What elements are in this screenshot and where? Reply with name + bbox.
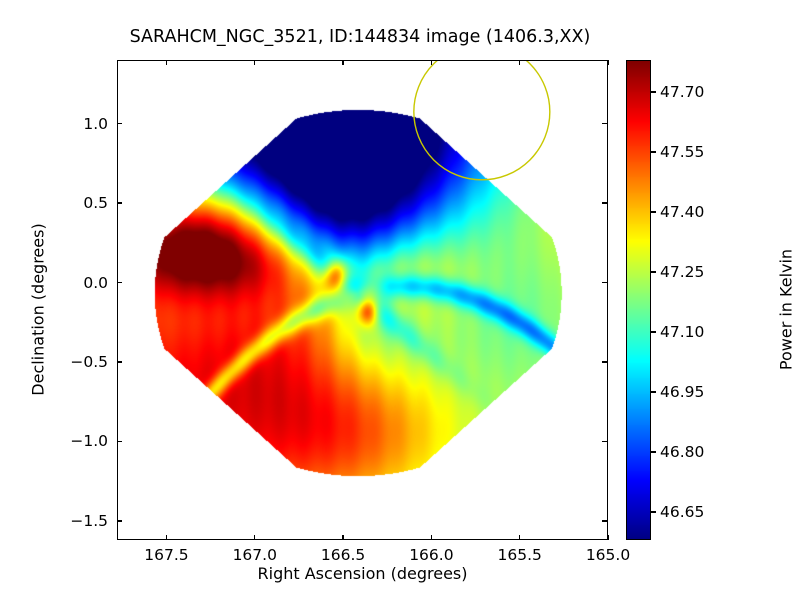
y-tick-mark <box>117 441 122 442</box>
y-tick-mark <box>117 520 122 521</box>
colorbar-tick-mark <box>651 391 656 392</box>
y-tick-label: −0.5 <box>40 353 108 371</box>
x-tick-mark-top <box>607 60 608 65</box>
y-tick-mark-right <box>602 202 607 203</box>
y-tick-label: 0.0 <box>40 274 108 292</box>
colorbar-tick-label: 47.55 <box>660 143 704 161</box>
colorbar-tick-mark <box>651 451 656 452</box>
y-tick-label: 1.0 <box>40 115 108 133</box>
y-tick-mark-right <box>602 520 607 521</box>
y-axis-label: Declination (degrees) <box>29 130 48 490</box>
colorbar-tick-label: 46.65 <box>660 503 704 521</box>
page-title: SARAHCM_NGC_3521, ID:144834 image (1406.… <box>0 27 720 47</box>
colorbar-tick-label: 47.10 <box>660 323 704 341</box>
x-tick-label: 166.0 <box>409 546 453 564</box>
y-tick-label: −1.5 <box>40 512 108 530</box>
colorbar-tick-mark <box>651 511 656 512</box>
colorbar-tick-label: 46.95 <box>660 383 704 401</box>
x-tick-mark <box>519 535 520 540</box>
colorbar-tick-label: 46.80 <box>660 443 704 461</box>
x-tick-mark <box>607 535 608 540</box>
y-tick-mark <box>117 282 122 283</box>
x-axis-label: Right Ascension (degrees) <box>117 564 608 583</box>
colorbar-tick-mark <box>651 91 656 92</box>
colorbar-tick-label: 47.40 <box>660 203 704 221</box>
x-tick-mark <box>342 535 343 540</box>
x-tick-mark-top <box>254 60 255 65</box>
beam-heatmap-image[interactable] <box>118 61 608 540</box>
x-tick-label: 166.5 <box>321 546 365 564</box>
colorbar[interactable] <box>626 60 651 540</box>
x-tick-label: 165.0 <box>586 546 630 564</box>
colorbar-tick-mark <box>651 271 656 272</box>
colorbar-gradient <box>627 61 651 540</box>
y-tick-mark-right <box>602 282 607 283</box>
y-tick-mark <box>117 123 122 124</box>
x-tick-label: 167.0 <box>233 546 277 564</box>
x-tick-mark-top <box>431 60 432 65</box>
x-tick-mark-top <box>519 60 520 65</box>
figure-root: SARAHCM_NGC_3521, ID:144834 image (1406.… <box>0 0 800 600</box>
colorbar-tick-label: 47.70 <box>660 83 704 101</box>
y-tick-mark-right <box>602 361 607 362</box>
x-tick-label: 167.5 <box>144 546 188 564</box>
x-tick-mark <box>166 535 167 540</box>
colorbar-tick-label: 47.25 <box>660 263 704 281</box>
y-tick-mark-right <box>602 123 607 124</box>
colorbar-label: Power in Kelvin <box>777 130 796 490</box>
x-tick-mark-top <box>166 60 167 65</box>
y-tick-mark <box>117 361 122 362</box>
colorbar-tick-mark <box>651 151 656 152</box>
colorbar-tick-mark <box>651 331 656 332</box>
y-tick-label: −1.0 <box>40 432 108 450</box>
x-tick-mark <box>431 535 432 540</box>
y-tick-mark <box>117 202 122 203</box>
colorbar-tick-mark <box>651 211 656 212</box>
plot-axes[interactable] <box>117 60 608 540</box>
x-tick-mark <box>254 535 255 540</box>
y-tick-mark-right <box>602 441 607 442</box>
x-tick-mark-top <box>342 60 343 65</box>
y-tick-label: 0.5 <box>40 194 108 212</box>
x-tick-label: 165.5 <box>498 546 542 564</box>
